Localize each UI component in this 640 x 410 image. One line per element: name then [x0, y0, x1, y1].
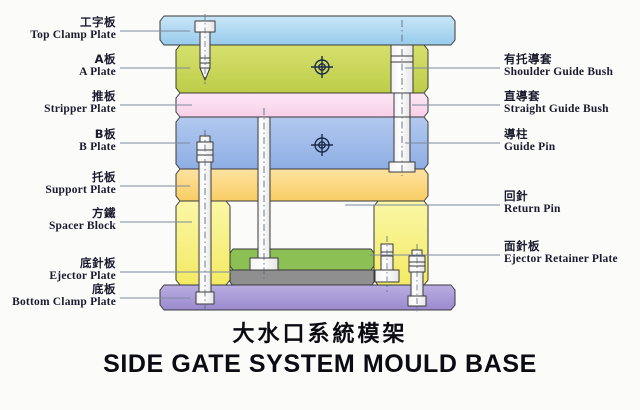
stripper-plate[interactable]	[176, 93, 428, 117]
label-ejector-plate: 底針板 Ejector Plate	[49, 257, 116, 283]
label-english: A Plate	[79, 66, 116, 79]
label-shoulder-guide-bush: 有托導套 Shoulder Guide Bush	[504, 53, 613, 79]
label-straight-guide-bush: 直導套 Straight Guide Bush	[504, 90, 609, 116]
label-english: Spacer Block	[49, 220, 116, 233]
label-bottom-clamp-plate: 底板 Bottom Clamp Plate	[12, 283, 116, 309]
label-chinese: B板	[79, 128, 116, 141]
label-english: Support Plate	[45, 184, 116, 197]
label-english: Return Pin	[504, 203, 561, 216]
label-spacer-block: 方鐵 Spacer Block	[49, 207, 116, 233]
label-chinese: 直導套	[504, 90, 609, 103]
label-english: Top Clamp Plate	[30, 29, 116, 42]
label-guide-pin: 導柱 Guide Pin	[504, 128, 555, 154]
label-support-plate: 托板 Support Plate	[45, 171, 116, 197]
label-stripper-plate: 推板 Stripper Plate	[44, 90, 116, 116]
ejector-plate[interactable]	[230, 270, 374, 286]
a-plate[interactable]	[176, 45, 428, 93]
label-ejector-retainer-plate: 面針板 Ejector Retainer Plate	[504, 240, 618, 266]
label-b-plate: B板 B Plate	[79, 128, 116, 154]
label-chinese: 有托導套	[504, 53, 613, 66]
label-chinese: A板	[79, 53, 116, 66]
label-english: Straight Guide Bush	[504, 103, 609, 116]
label-english: Stripper Plate	[44, 103, 116, 116]
b-plate[interactable]	[176, 117, 428, 169]
label-chinese: 回針	[504, 190, 561, 203]
label-top-clamp-plate: 工字板 Top Clamp Plate	[30, 16, 116, 42]
label-english: Bottom Clamp Plate	[12, 296, 116, 309]
label-chinese: 底板	[12, 283, 116, 296]
title-chinese: 大水口系統模架	[0, 316, 640, 348]
diagram-title: 大水口系統模架 SIDE GATE SYSTEM MOULD BASE	[0, 316, 640, 379]
label-english: Ejector Retainer Plate	[504, 253, 618, 266]
label-chinese: 工字板	[30, 16, 116, 29]
title-english: SIDE GATE SYSTEM MOULD BASE	[0, 350, 640, 379]
label-return-pin: 回針 Return Pin	[504, 190, 561, 216]
label-chinese: 方鐵	[49, 207, 116, 220]
label-english: Guide Pin	[504, 141, 555, 154]
label-chinese: 面針板	[504, 240, 618, 253]
diagram-canvas: 工字板 Top Clamp Plate A板 A Plate 推板 Stripp…	[0, 0, 640, 410]
label-a-plate: A板 A Plate	[79, 53, 116, 79]
label-chinese: 推板	[44, 90, 116, 103]
label-english: Shoulder Guide Bush	[504, 66, 613, 79]
label-chinese: 底針板	[49, 257, 116, 270]
label-english: B Plate	[79, 141, 116, 154]
label-chinese: 導柱	[504, 128, 555, 141]
label-chinese: 托板	[45, 171, 116, 184]
support-plate[interactable]	[176, 169, 428, 201]
